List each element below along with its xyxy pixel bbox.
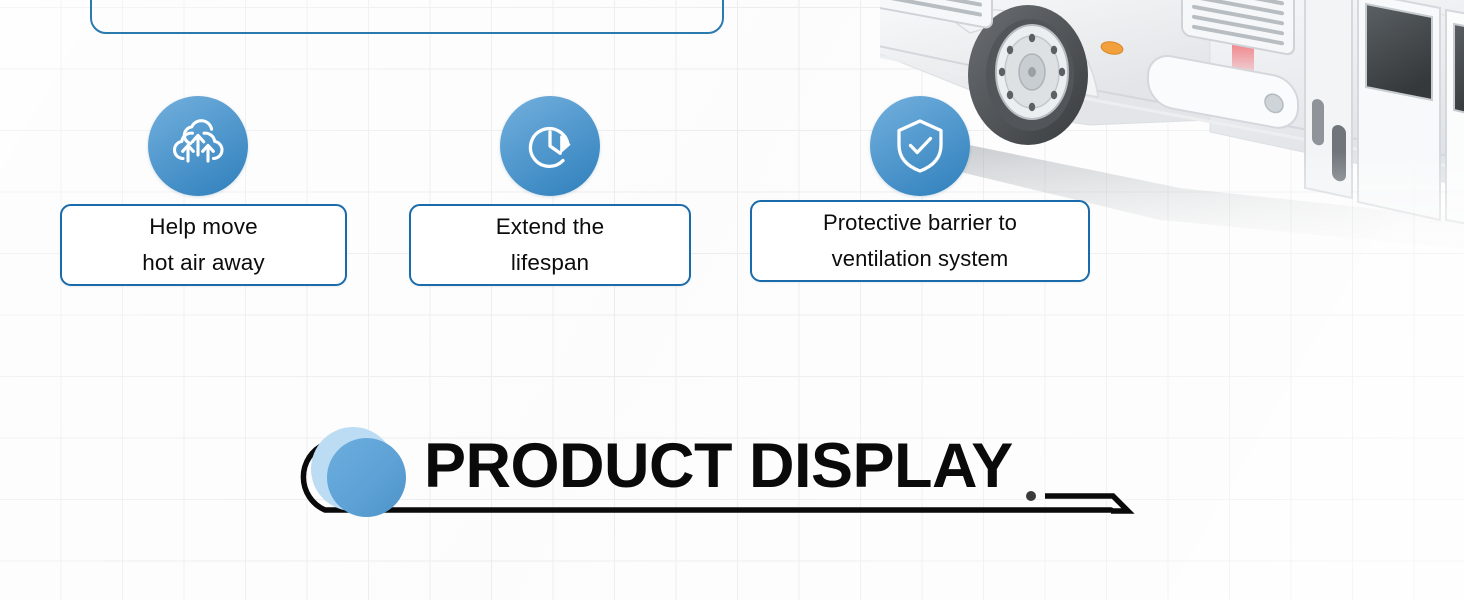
banner-circle-blue	[327, 438, 406, 517]
feature-label-box: Protective barrier to ventilation system	[750, 200, 1090, 282]
product-display-title: PRODUCT DISPLAY	[424, 430, 1013, 502]
clock-rotate-icon	[500, 96, 600, 196]
feature-label-text: Extend the lifespan	[496, 209, 605, 281]
clouds-up-arrows-icon	[148, 96, 248, 196]
shield-check-icon	[870, 96, 970, 196]
black-dot	[1026, 491, 1036, 501]
feature-list: Help move hot air away Extend the lifesp…	[0, 96, 1120, 296]
feature-label-box: Extend the lifespan	[409, 204, 691, 286]
product-display-banner: PRODUCT DISPLAY	[283, 418, 1143, 533]
feature-label-text: Help move hot air away	[142, 209, 265, 281]
cut-off-callout-card	[90, 0, 724, 34]
feature-label-text: Protective barrier to ventilation system	[823, 205, 1017, 277]
page-root: Help move hot air away Extend the lifesp…	[0, 0, 1464, 600]
feature-label-box: Help move hot air away	[60, 204, 347, 286]
